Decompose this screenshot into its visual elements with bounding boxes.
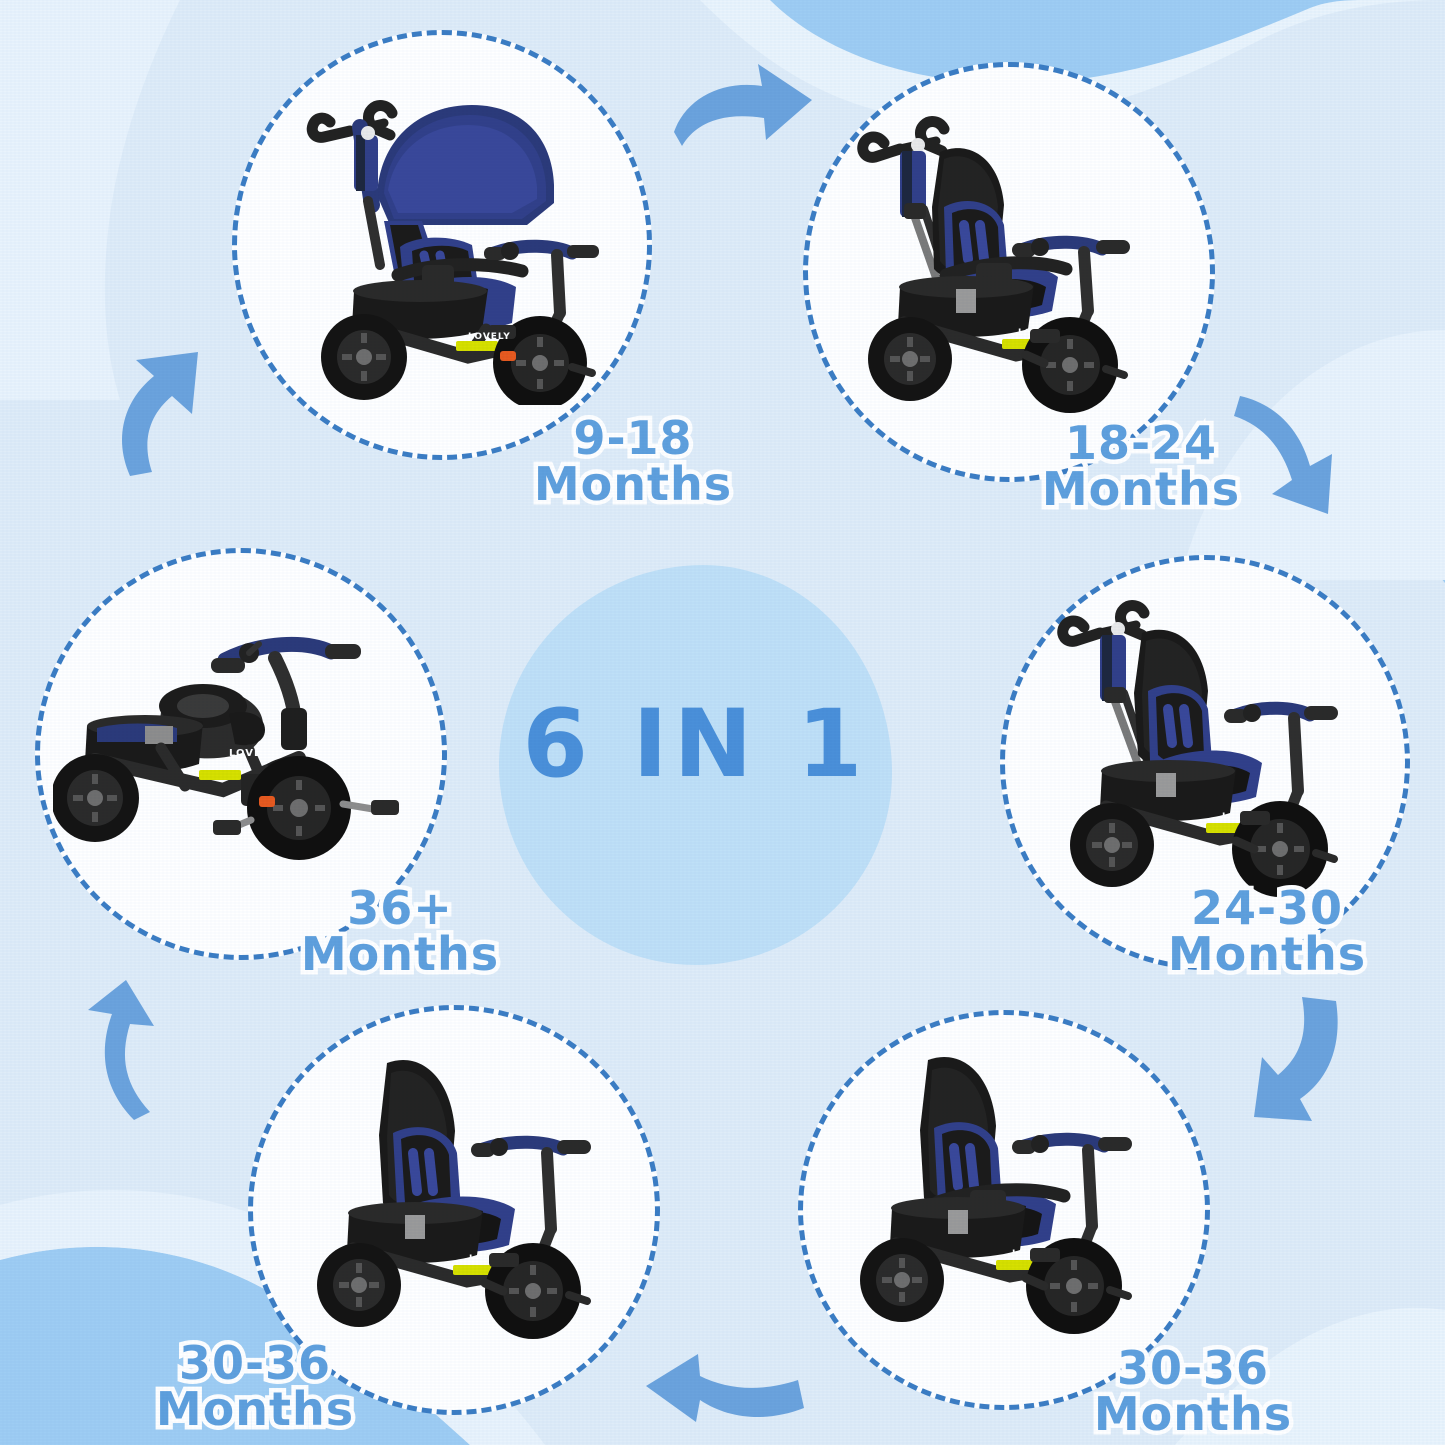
wheel-rear [53,754,139,842]
wheel-rear [1070,803,1154,887]
svg-text:LOVELY: LOVELY [229,748,276,759]
label-18-24: 18-24 Months [996,420,1286,512]
wheel-rear [868,317,952,401]
wheel-rear [321,314,407,400]
label-24-30: 24-30 Months [1122,885,1412,977]
product-image-30-36-b: LOVELY [848,1030,1178,1350]
product-image-9-18: LOVELY [272,75,617,405]
arrow-up-left [68,978,218,1128]
arrow-up-right [100,340,250,480]
svg-text:LOVELY: LOVELY [468,332,511,342]
infographic-canvas: 6 IN 1 [0,0,1445,1445]
stage-card-9-18[interactable]: LOVELY [232,30,652,460]
label-30-36-a: 30-36 Months [110,1340,400,1432]
arrow-right-top [660,50,830,180]
label-36plus: 36+ Months [255,885,545,977]
product-image-18-24: LOVELY [848,97,1178,427]
wheel-rear [317,1243,401,1327]
product-image-24-30: LOVELY [1050,585,1370,915]
arrow-left-bottom [638,1350,818,1445]
product-image-30-36-a: LOVELY [303,1033,623,1353]
arrow-down-left [1240,995,1390,1145]
wheel-rear [860,1238,944,1322]
wheel-front [247,756,351,860]
product-image-36plus: LOVELY [53,608,413,878]
label-30-36-b: 30-36 Months [1048,1345,1338,1437]
label-9-18: 9-18 Months [488,415,778,507]
page-title: 6 IN 1 [499,690,892,799]
